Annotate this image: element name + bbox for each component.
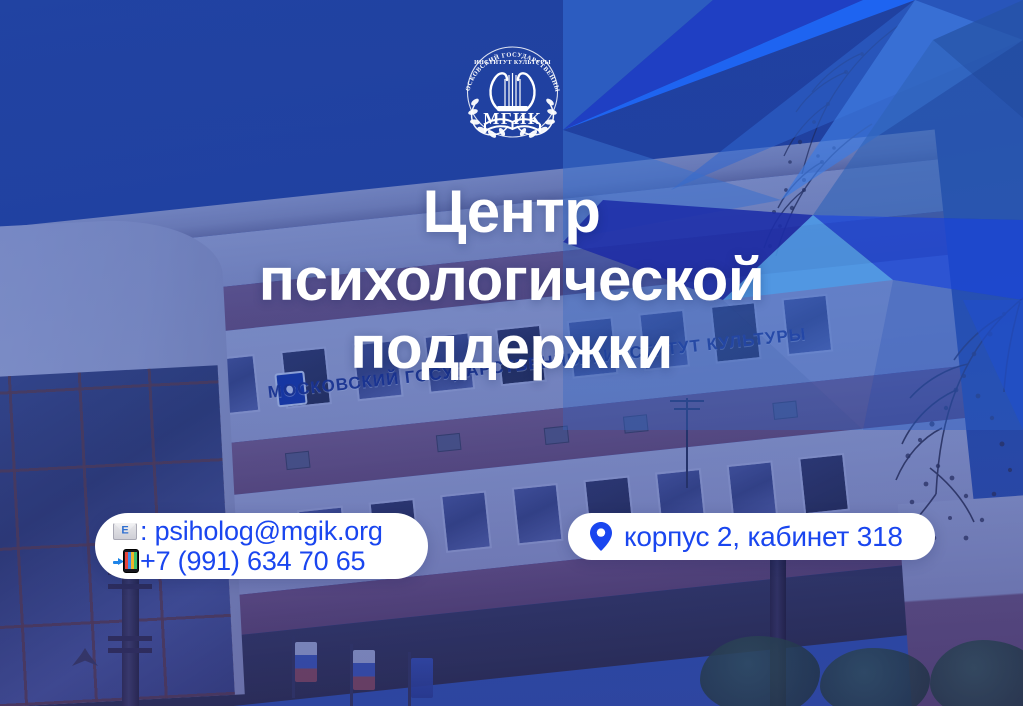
email-text[interactable]: : psiholog@mgik.org [140,518,383,545]
page-title: Центр психологической поддержки [0,178,1023,381]
svg-text:ИНСТИТУТ КУЛЬТУРЫ: ИНСТИТУТ КУЛЬТУРЫ [474,60,551,66]
location-pill[interactable]: корпус 2, кабинет 318 [568,513,935,560]
email-icon: E [113,523,137,540]
poster: МОСКОВСКИЙ ГОСУДАРСТВЕННЫЙ ИНСТИТУТ КУЛЬ… [0,0,1023,706]
title-line-3: поддержки [0,314,1023,382]
mobile-phone-icon [113,549,139,573]
logo-abbreviation: МГИК [483,109,541,128]
phone-text[interactable]: +7 (991) 634 70 65 [140,548,365,575]
phone-row[interactable]: +7 (991) 634 70 65 [113,548,365,575]
title-line-2: психологической [0,246,1023,314]
mgik-logo: МОСКОВСКИЙ ГОСУДАРСТВЕННЫЙ ИНСТИТУТ КУЛЬ… [455,32,570,147]
title-line-1: Центр [0,178,1023,246]
email-row[interactable]: E : psiholog@mgik.org [113,518,383,545]
contact-pill[interactable]: E : psiholog@mgik.org +7 (991) 634 70 65 [95,513,428,579]
map-pin-icon [590,522,612,551]
location-text: корпус 2, кабинет 318 [624,521,903,553]
